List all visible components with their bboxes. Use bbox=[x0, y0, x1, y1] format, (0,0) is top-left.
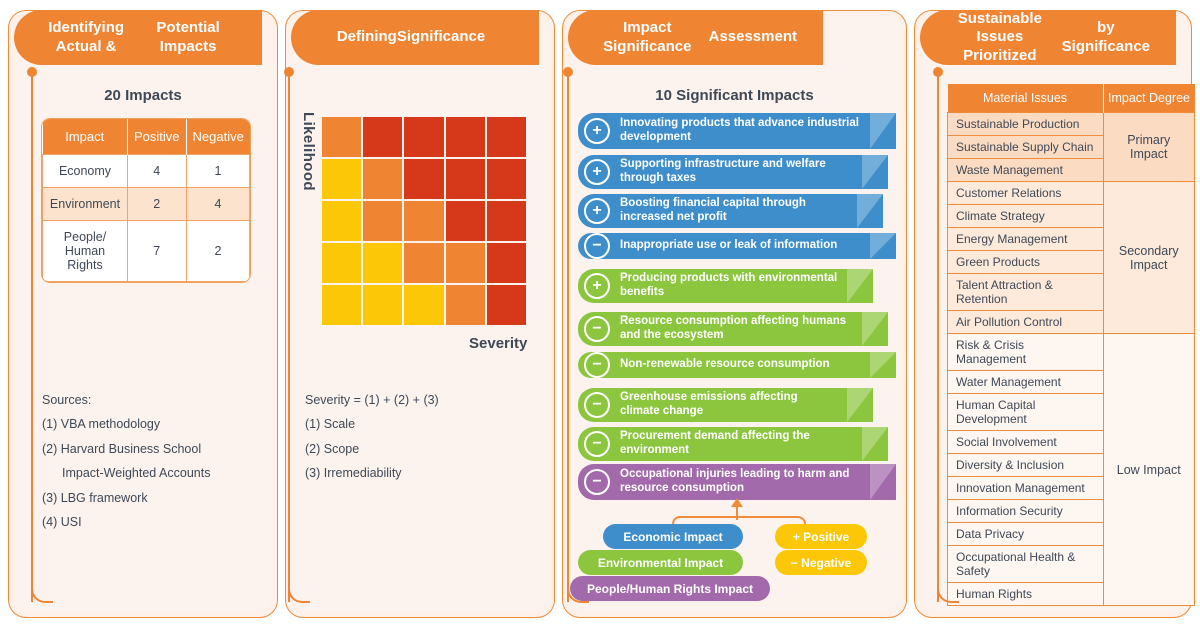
minus-icon: − bbox=[584, 352, 610, 378]
material-issue-cell: Energy Management bbox=[948, 228, 1104, 251]
impacts-row-negative: 2 bbox=[186, 221, 250, 282]
heatmap-cell-r1-c5 bbox=[487, 117, 526, 157]
table-row: Sustainable ProductionPrimaryImpact bbox=[948, 113, 1195, 136]
impact-bar-6[interactable]: −Resource consumption affecting humans a… bbox=[578, 312, 888, 346]
plus-icon: + bbox=[584, 198, 610, 224]
sources-title: Sources: bbox=[42, 388, 262, 412]
legend-category-1[interactable]: Economic Impact bbox=[603, 524, 743, 549]
impact-bar-2[interactable]: +Supporting infrastructure and welfare t… bbox=[578, 155, 888, 189]
material-issue-cell: Sustainable Production bbox=[948, 113, 1104, 136]
ribbon-fold bbox=[862, 155, 888, 189]
impacts-row-positive: 4 bbox=[128, 155, 187, 188]
impact-degree-cell: Low Impact bbox=[1103, 334, 1195, 606]
heatmap-cell-r1-c4 bbox=[446, 117, 485, 157]
panel-1-connector bbox=[31, 72, 33, 602]
heatmap-cell-r5-c3 bbox=[404, 285, 443, 325]
likelihood-axis-label: Likelihood bbox=[300, 112, 317, 191]
impact-bar-10[interactable]: −Occupational injuries leading to harm a… bbox=[578, 464, 896, 500]
minus-icon: − bbox=[584, 469, 610, 495]
panel-1-connector-dot bbox=[27, 67, 37, 77]
material-issue-cell: Human Capital Development bbox=[948, 394, 1104, 431]
impacts-row-label: People/ Human Rights bbox=[43, 221, 128, 282]
legend-category-label: People/Human Rights Impact bbox=[587, 582, 753, 596]
material-issues-header-row: Material Issues Impact Degree bbox=[948, 84, 1195, 113]
heatmap-cell-r2-c3 bbox=[404, 159, 443, 199]
impact-degree-line: Secondary bbox=[1110, 244, 1189, 258]
material-issue-cell: Information Security bbox=[948, 500, 1104, 523]
ribbon-fold bbox=[870, 233, 896, 259]
material-issue-cell: Green Products bbox=[948, 251, 1104, 274]
material-issue-cell: Data Privacy bbox=[948, 523, 1104, 546]
heatmap-cell-r1-c1 bbox=[322, 117, 361, 157]
source-item: (1) VBA methodology bbox=[42, 412, 262, 436]
impact-bar-label: Resource consumption affecting humans an… bbox=[620, 315, 854, 343]
heatmap-cell-r5-c2 bbox=[363, 285, 402, 325]
material-issue-cell: Customer Relations bbox=[948, 182, 1104, 205]
severity-component: (1) Scale bbox=[305, 412, 535, 436]
impact-degree-line: Impact bbox=[1110, 258, 1189, 272]
ribbon-fold bbox=[870, 113, 896, 149]
material-issue-cell: Sustainable Supply Chain bbox=[948, 136, 1104, 159]
impact-degree-cell: SecondaryImpact bbox=[1103, 182, 1195, 334]
impacts-table-header-row: Impact Positive Negative bbox=[43, 119, 250, 155]
legend-sign-label: − Negative bbox=[791, 556, 851, 570]
impacts-row-negative: 4 bbox=[186, 188, 250, 221]
heatmap-cell-r4-c2 bbox=[363, 243, 402, 283]
impacts-row-positive: 7 bbox=[128, 221, 187, 282]
material-issue-cell: Waste Management bbox=[948, 159, 1104, 182]
panel-1-heading: 20 Impacts bbox=[8, 87, 278, 104]
impacts-table: Impact Positive Negative Economy 4 1 Env… bbox=[42, 119, 250, 282]
impact-bar-7[interactable]: −Non-renewable resource consumption bbox=[578, 352, 896, 378]
panel-3-title-line2: Assessment bbox=[709, 28, 797, 46]
material-issue-cell: Occupational Health & Safety bbox=[948, 546, 1104, 583]
impact-degree-line: Low Impact bbox=[1110, 463, 1189, 477]
panel-3-title: Impact Significance Assessment bbox=[568, 10, 823, 65]
ribbon-fold bbox=[870, 352, 896, 378]
minus-icon: − bbox=[584, 316, 610, 342]
legend-category-3[interactable]: People/Human Rights Impact bbox=[570, 576, 770, 601]
panel-4-connector bbox=[937, 72, 939, 602]
material-issue-cell: Talent Attraction & Retention bbox=[948, 274, 1104, 311]
sources-block: Sources: (1) VBA methodology (2) Harvard… bbox=[42, 388, 262, 534]
heatmap-cell-r5-c1 bbox=[322, 285, 361, 325]
panel-2-title-line1: Defining bbox=[337, 28, 397, 46]
material-issue-cell: Air Pollution Control bbox=[948, 311, 1104, 334]
table-row: Customer RelationsSecondaryImpact bbox=[948, 182, 1195, 205]
minus-icon: − bbox=[584, 233, 610, 259]
panel-4-title: Sustainable Issues Prioritized by Signif… bbox=[920, 10, 1176, 65]
impacts-row-negative: 1 bbox=[186, 155, 250, 188]
material-issue-cell: Social Involvement bbox=[948, 431, 1104, 454]
impact-bar-label: Greenhouse emissions affecting climate c… bbox=[620, 391, 839, 419]
panel-4-title-line1: Sustainable Issues Prioritized bbox=[938, 10, 1062, 65]
impact-degree-line: Primary bbox=[1110, 133, 1189, 147]
significance-heatmap bbox=[322, 117, 526, 325]
ribbon-fold bbox=[847, 388, 873, 422]
severity-component: (3) Irremediability bbox=[305, 461, 535, 485]
heatmap-cell-r5-c5 bbox=[487, 285, 526, 325]
material-issue-cell: Risk & Crisis Management bbox=[948, 334, 1104, 371]
legend-arrow-icon bbox=[731, 498, 743, 507]
heatmap-cell-r4-c5 bbox=[487, 243, 526, 283]
infographic-board: Identifying Actual & Potential Impacts 2… bbox=[0, 0, 1200, 628]
minus-icon: − bbox=[584, 392, 610, 418]
impact-bar-9[interactable]: −Procurement demand affecting the enviro… bbox=[578, 427, 888, 461]
severity-component: (2) Scope bbox=[305, 437, 535, 461]
impact-bar-label: Occupational injuries leading to harm an… bbox=[620, 468, 862, 496]
impacts-row-label: Environment bbox=[43, 188, 128, 221]
panel-2-connector-dot bbox=[284, 67, 294, 77]
panel-3-heading: 10 Significant Impacts bbox=[562, 87, 907, 104]
impacts-row-label-line: People/ bbox=[48, 230, 122, 244]
impacts-col-impact: Impact bbox=[43, 119, 128, 155]
panel-4-connector-dot bbox=[933, 67, 943, 77]
heatmap-cell-r2-c5 bbox=[487, 159, 526, 199]
impacts-row-label: Economy bbox=[43, 155, 128, 188]
plus-icon: + bbox=[584, 159, 610, 185]
impact-bar-3[interactable]: +Boosting financial capital through incr… bbox=[578, 194, 883, 228]
material-issue-cell: Human Rights bbox=[948, 583, 1104, 606]
panel-3-connector-dot bbox=[563, 67, 573, 77]
heatmap-cell-r1-c3 bbox=[404, 117, 443, 157]
table-row: Environment 2 4 bbox=[43, 188, 250, 221]
impact-bar-label: Supporting infrastructure and welfare th… bbox=[620, 158, 854, 186]
heatmap-cell-r4-c4 bbox=[446, 243, 485, 283]
panel-1-title-line1: Identifying Actual & bbox=[32, 19, 140, 56]
legend-sign-1[interactable]: + Positive bbox=[775, 524, 867, 549]
panel-3-title-line1: Impact Significance bbox=[586, 19, 709, 56]
source-item: (3) LBG framework bbox=[42, 486, 262, 510]
impact-bar-1[interactable]: +Innovating products that advance indust… bbox=[578, 113, 896, 149]
table-row: Risk & Crisis ManagementLow Impact bbox=[948, 334, 1195, 371]
impact-degree-col-header: Impact Degree bbox=[1103, 84, 1195, 113]
heatmap-cell-r3-c4 bbox=[446, 201, 485, 241]
material-issues-table: Material Issues Impact Degree Sustainabl… bbox=[947, 84, 1195, 606]
ribbon-fold bbox=[870, 464, 896, 500]
legend-sign-2[interactable]: − Negative bbox=[775, 550, 867, 575]
heatmap-cell-r1-c2 bbox=[363, 117, 402, 157]
ribbon-fold bbox=[862, 427, 888, 461]
impacts-row-label-line: Rights bbox=[48, 258, 122, 272]
ribbon-fold bbox=[862, 312, 888, 346]
ribbon-fold bbox=[847, 269, 873, 303]
legend-arrow-stem bbox=[736, 506, 738, 520]
heatmap-cell-r2-c2 bbox=[363, 159, 402, 199]
impacts-row-label-line: Human bbox=[48, 244, 122, 258]
table-row: People/ Human Rights 7 2 bbox=[43, 221, 250, 282]
panel-2-title: Defining Significance bbox=[291, 10, 539, 65]
impact-bar-label: Inappropriate use or leak of information bbox=[620, 239, 837, 253]
plus-icon: + bbox=[584, 118, 610, 144]
impact-bar-label: Innovating products that advance industr… bbox=[620, 117, 862, 145]
heatmap-cell-r3-c1 bbox=[322, 201, 361, 241]
source-item: (4) USI bbox=[42, 510, 262, 534]
impact-degree-cell: PrimaryImpact bbox=[1103, 113, 1195, 182]
severity-axis-label: Severity bbox=[469, 335, 527, 352]
impact-bar-5[interactable]: +Producing products with environmental b… bbox=[578, 269, 873, 303]
severity-formula: Severity = (1) + (2) + (3) bbox=[305, 388, 535, 412]
panel-1-title: Identifying Actual & Potential Impacts bbox=[14, 10, 262, 65]
material-issue-cell: Innovation Management bbox=[948, 477, 1104, 500]
source-item: (2) Harvard Business School bbox=[42, 437, 262, 461]
panel-1-title-line2: Potential Impacts bbox=[140, 19, 236, 56]
impact-bar-label: Boosting financial capital through incre… bbox=[620, 197, 849, 225]
legend-category-label: Environmental Impact bbox=[598, 556, 723, 570]
heatmap-cell-r3-c3 bbox=[404, 201, 443, 241]
material-issues-col-header: Material Issues bbox=[948, 84, 1104, 113]
table-row: Economy 4 1 bbox=[43, 155, 250, 188]
material-issue-cell: Diversity & Inclusion bbox=[948, 454, 1104, 477]
impact-bar-4[interactable]: −Inappropriate use or leak of informatio… bbox=[578, 233, 896, 259]
legend-sign-label: + Positive bbox=[793, 530, 849, 544]
impacts-row-positive: 2 bbox=[128, 188, 187, 221]
material-issue-cell: Climate Strategy bbox=[948, 205, 1104, 228]
heatmap-cell-r4-c1 bbox=[322, 243, 361, 283]
material-issue-cell: Water Management bbox=[948, 371, 1104, 394]
ribbon-fold bbox=[857, 194, 883, 228]
heatmap-cell-r5-c4 bbox=[446, 285, 485, 325]
impact-bar-label: Procurement demand affecting the environ… bbox=[620, 430, 854, 458]
panel-2-connector bbox=[288, 72, 290, 602]
heatmap-cell-r2-c4 bbox=[446, 159, 485, 199]
impact-degree-line: Impact bbox=[1110, 147, 1189, 161]
panel-3-connector bbox=[567, 72, 569, 602]
impacts-col-positive: Positive bbox=[128, 119, 187, 155]
impacts-col-negative: Negative bbox=[186, 119, 250, 155]
heatmap-cell-r3-c2 bbox=[363, 201, 402, 241]
heatmap-cell-r4-c3 bbox=[404, 243, 443, 283]
impact-bar-8[interactable]: −Greenhouse emissions affecting climate … bbox=[578, 388, 873, 422]
impact-bar-label: Producing products with environmental be… bbox=[620, 272, 839, 300]
legend-category-label: Economic Impact bbox=[623, 530, 722, 544]
legend-category-2[interactable]: Environmental Impact bbox=[578, 550, 743, 575]
heatmap-cell-r3-c5 bbox=[487, 201, 526, 241]
impact-bar-label: Non-renewable resource consumption bbox=[620, 358, 830, 372]
panel-4-title-line2: by Significance bbox=[1062, 19, 1150, 56]
minus-icon: − bbox=[584, 431, 610, 457]
plus-icon: + bbox=[584, 273, 610, 299]
severity-formula-block: Severity = (1) + (2) + (3) (1) Scale (2)… bbox=[305, 388, 535, 486]
panel-2-title-line2: Significance bbox=[397, 28, 485, 46]
source-item-continuation: Impact-Weighted Accounts bbox=[42, 461, 262, 485]
heatmap-cell-r2-c1 bbox=[322, 159, 361, 199]
